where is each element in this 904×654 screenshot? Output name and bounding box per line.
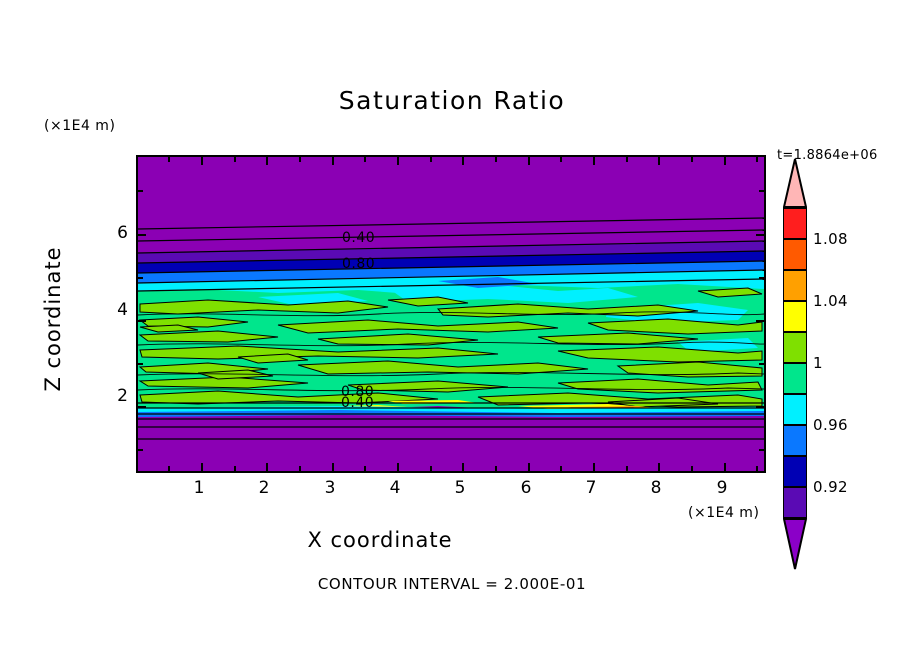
contour-field [138,157,764,471]
colorbar-label: 1.08 [813,230,848,248]
x-tick-top-major [724,157,726,165]
x-tick-major [266,463,268,471]
x-tick-major [201,463,203,471]
x-tick-major [658,463,660,471]
colorbar-band [783,487,807,518]
x-tick-top-minor [756,157,758,162]
y-axis-title: Z coordinate [41,204,65,434]
y-tick-label: 2 [98,386,128,406]
contour-label: 0.80 [342,256,375,272]
y-tick-minor [138,449,143,451]
y-tick-major [138,234,146,236]
x-tick-label: 8 [636,478,676,498]
y-tick-right-minor [759,449,764,451]
colorbar-band [783,239,807,270]
colorbar-band [783,394,807,425]
x-tick-top-minor [168,157,170,162]
x-tick-label: 2 [244,478,284,498]
y-tick-right-major [756,320,764,322]
x-tick-top-minor [234,157,236,162]
x-tick-minor [495,466,497,471]
colorbar-band [783,456,807,487]
colorbar-band [783,301,807,332]
y-tick-minor [138,277,143,279]
x-tick-major [724,463,726,471]
x-tick-label: 7 [571,478,611,498]
x-tick-top-major [462,157,464,165]
colorbar-bottom-arrow [783,518,807,570]
y-tick-label: 6 [98,223,128,243]
y-tick-right-minor [759,363,764,365]
x-tick-top-major [266,157,268,165]
x-tick-minor [430,466,432,471]
x-tick-top-major [397,157,399,165]
colorbar-band [783,425,807,456]
vertical-axis-unit-label: (×1E4 m) [44,118,115,134]
x-tick-major [528,463,530,471]
y-tick-major [138,406,146,408]
x-tick-minor [364,466,366,471]
x-tick-top-minor [430,157,432,162]
x-tick-label: 4 [375,478,415,498]
page-title: Saturation Ratio [0,86,904,115]
x-tick-top-minor [364,157,366,162]
x-tick-top-major [332,157,334,165]
y-tick-label: 4 [98,300,128,320]
y-tick-right-major [756,406,764,408]
x-tick-minor [560,466,562,471]
x-tick-label: 1 [179,478,219,498]
contour-label: 0.40 [341,395,374,411]
y-tick-minor [138,363,143,365]
x-tick-minor [299,466,301,471]
x-tick-minor [626,466,628,471]
x-tick-major [593,463,595,471]
x-tick-top-minor [495,157,497,162]
x-tick-top-major [658,157,660,165]
x-tick-minor [691,466,693,471]
x-tick-top-major [593,157,595,165]
x-tick-major [397,463,399,471]
y-tick-right-minor [759,190,764,192]
colorbar-label: 1 [813,354,823,372]
x-tick-top-minor [299,157,301,162]
x-tick-top-major [201,157,203,165]
y-tick-minor [138,190,143,192]
colorbar-top-arrow [783,158,807,208]
y-tick-right-major [756,234,764,236]
x-tick-label: 9 [702,478,742,498]
colorbar-band [783,363,807,394]
contour-interval-caption: CONTOUR INTERVAL = 2.000E-01 [0,575,904,593]
x-tick-top-minor [691,157,693,162]
x-tick-minor [234,466,236,471]
y-tick-major [138,320,146,322]
colorbar-band [783,332,807,363]
colorbar-band [783,270,807,301]
x-tick-label: 3 [310,478,350,498]
colorbar-label: 0.92 [813,478,848,496]
x-tick-major [462,463,464,471]
x-tick-top-minor [560,157,562,162]
colorbar-label: 1.04 [813,292,848,310]
y-tick-right-minor [759,277,764,279]
contour-plot-area [136,155,766,473]
x-tick-minor [168,466,170,471]
x-tick-major [332,463,334,471]
contour-label: 0.40 [342,230,375,246]
x-tick-top-minor [626,157,628,162]
x-tick-label: 6 [506,478,546,498]
x-axis-title: X coordinate [0,528,760,552]
x-tick-top-major [528,157,530,165]
colorbar: 1.08 1.04 1 0.96 0.92 [783,208,807,520]
horizontal-axis-unit-label: (×1E4 m) [688,505,759,521]
x-tick-minor [756,466,758,471]
x-tick-label: 5 [440,478,480,498]
colorbar-label: 0.96 [813,416,848,434]
colorbar-band [783,208,807,239]
